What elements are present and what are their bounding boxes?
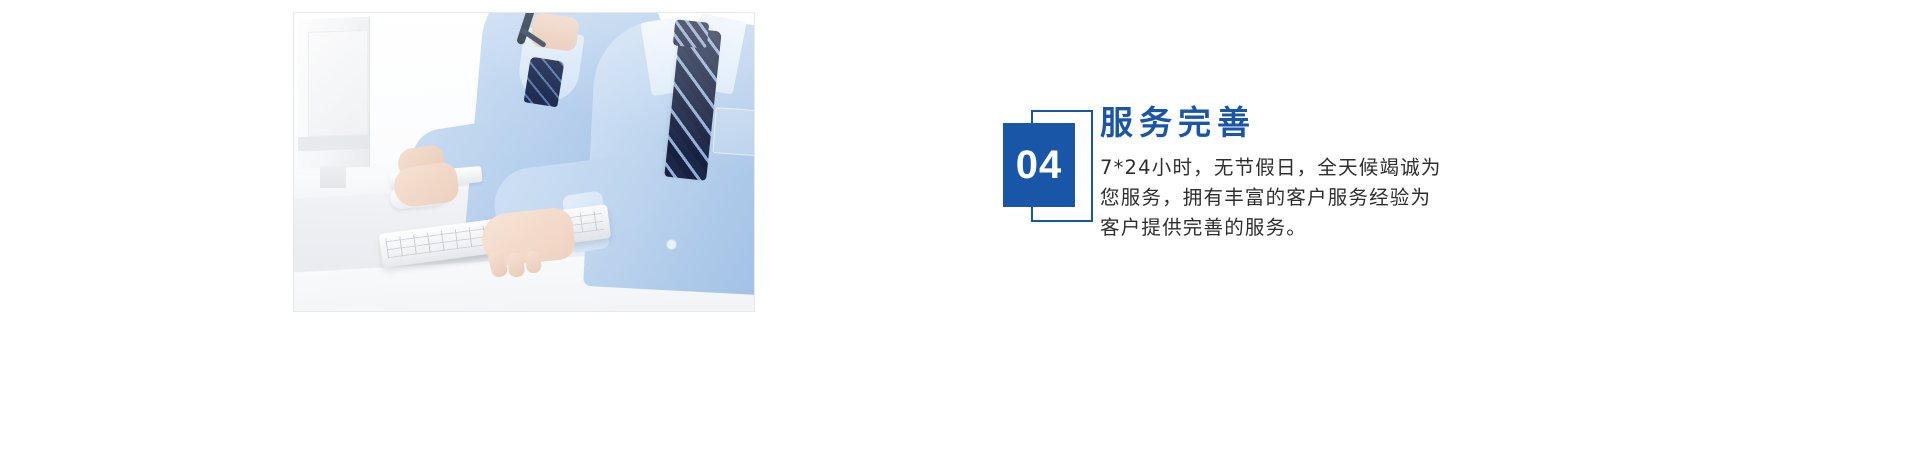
feature-title: 服务完善 (1100, 102, 1540, 143)
agent-front-shirt-pocket (712, 107, 754, 157)
feature-photo (294, 13, 754, 311)
finger (525, 251, 541, 274)
feature-description-line-2: 您服务，拥有丰富的客户服务经验为 (1100, 183, 1540, 213)
agent-back-tie (524, 57, 565, 108)
feature-text-column: 服务完善 7*24小时，无节假日，全天候竭诚为 您服务，拥有丰富的客户服务经验为… (1100, 102, 1540, 243)
badge-filled-square: 04 (1003, 123, 1075, 207)
feature-description: 7*24小时，无节假日，全天候竭诚为 您服务，拥有丰富的客户服务经验为 客户提供… (1100, 153, 1540, 243)
feature-content: 04 服务完善 7*24小时，无节假日，全天候竭诚为 您服务，拥有丰富的客户服务… (1003, 110, 1563, 290)
feature-description-line-1: 7*24小时，无节假日，全天候竭诚为 (1100, 153, 1540, 183)
feature-number-badge: 04 (1003, 110, 1099, 222)
feature-photo-frame (293, 12, 755, 312)
monitor-strip (298, 135, 370, 152)
monitor (298, 17, 370, 170)
monitor-screen (308, 30, 368, 137)
monitor-stand (320, 166, 346, 188)
feature-banner: 04 服务完善 7*24小时，无节假日，全天候竭诚为 您服务，拥有丰富的客户服务… (0, 0, 1920, 452)
agent-back-neck (530, 13, 580, 52)
agent-front-tie-knot (673, 19, 710, 48)
feature-description-line-3: 客户提供完善的服务。 (1100, 213, 1540, 243)
badge-number-label: 04 (1016, 145, 1063, 185)
